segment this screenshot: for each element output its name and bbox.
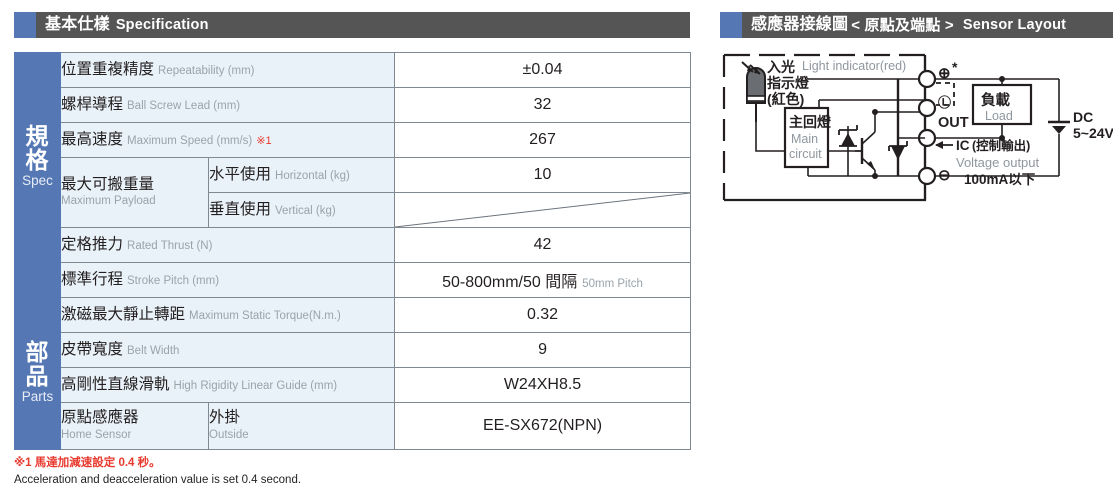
label-latin: Maximum Speed (mm/s)	[127, 135, 252, 147]
ic-arrow-icon	[935, 141, 953, 149]
table-row: 高剛性直線滑軌High Rigidity Linear Guide (mm) W…	[15, 368, 691, 403]
label-cjk: 激磁最大靜止轉距	[61, 306, 185, 323]
label-latin: Home Sensor	[61, 429, 208, 443]
dc-power-source-icon	[1048, 122, 1070, 134]
spec-title-latin: Specification	[116, 18, 209, 33]
label-cjk: 最大可搬重量	[61, 176, 208, 195]
table-row: 部品 Parts 激磁最大靜止轉距Maximum Static Torque(N…	[15, 298, 691, 333]
light-indicator-latin-label: Light indicator(red)	[802, 59, 906, 73]
row-value-high-rigidity-linear-guide: W24XH8.5	[395, 368, 691, 403]
label-latin: Maximum Payload	[61, 195, 208, 209]
value-text: EE-SX672(NPN)	[483, 417, 602, 434]
table-row: 螺桿導程Ball Screw Lead (mm) 32	[15, 88, 691, 123]
label-latin: Rated Thrust (N)	[127, 240, 212, 252]
value-text: 0.32	[527, 306, 558, 323]
value-text: ±0.04	[523, 61, 563, 78]
row-value-vertical-payload	[395, 193, 691, 228]
label-latin: High Rigidity Linear Guide (mm)	[174, 380, 338, 392]
spec-title-cjk: 基本仕樣	[45, 17, 110, 33]
row-value-horizontal-payload: 10	[395, 158, 691, 193]
label-cjk: 位置重複精度	[61, 61, 154, 78]
sub-row-label-horizontal: 水平使用Horizontal (kg)	[209, 158, 395, 193]
value-text: 42	[534, 236, 552, 253]
junction-dot	[999, 76, 1005, 82]
sub-label-cjk: 外掛	[209, 409, 394, 428]
load-cjk-label: 負載	[981, 91, 1010, 109]
label-cjk: 皮帶寬度	[61, 341, 123, 358]
label-latin: Ball Screw Lead (mm)	[127, 100, 240, 112]
header-bar: 基本仕樣 Specification	[36, 12, 690, 38]
row-label-high-rigidity-linear-guide: 高剛性直線滑軌High Rigidity Linear Guide (mm)	[61, 368, 395, 403]
value-sub-text: 50mm Pitch	[582, 278, 643, 290]
footnote-cjk: ※1 馬達加減速設定 0.4 秒。	[14, 456, 301, 472]
row-value-stroke-pitch: 50-800mm/50 間隔50mm Pitch	[395, 263, 691, 298]
row-value-repeatability: ±0.04	[395, 53, 691, 88]
row-label-maximum-speed: 最高速度Maximum Speed (mm/s)※1	[61, 123, 395, 158]
group-cell-parts: 部品 Parts	[15, 298, 61, 450]
sub-label-latin: Horizontal (kg)	[275, 170, 350, 182]
label-latin: Repeatability (mm)	[158, 65, 255, 77]
sub-row-label-vertical: 垂直使用Vertical (kg)	[209, 193, 395, 228]
terminal-out-label: OUT	[938, 115, 969, 131]
dc-value-label: 5~24V	[1073, 125, 1113, 141]
row-label-belt-width: 皮帶寬度Belt Width	[61, 333, 395, 368]
row-value-rated-thrust: 42	[395, 228, 691, 263]
dc-label: DC	[1073, 109, 1093, 125]
label-cjk: 原點感應器	[61, 409, 208, 428]
load-latin-label: Load	[985, 109, 1013, 123]
row-value-belt-width: 9	[395, 333, 691, 368]
light-indicator-cjk-label-3: (紅色)	[767, 91, 804, 107]
specification-section-header: 基本仕樣 Specification	[14, 12, 690, 38]
table-row: 最高速度Maximum Speed (mm/s)※1 267	[15, 123, 691, 158]
terminal-l-icon: Ⓛ	[938, 95, 951, 110]
row-value-home-sensor: EE-SX672(NPN)	[395, 403, 691, 450]
junction-dot	[999, 135, 1005, 141]
header-bar: 感應器接線圖 < 原點及端點 > Sensor Layout	[742, 12, 1113, 38]
voltage-output-label: Voltage output	[956, 155, 1040, 170]
row-label-repeatability: 位置重複精度Repeatability (mm)	[61, 53, 395, 88]
header-accent-block	[720, 12, 742, 38]
light-indicator-cjk-label-1: 入光	[767, 59, 795, 75]
sensor-circuit-svg: Light indicator(red) 入光 指示燈 (紅色) 主回燈 Mai…	[720, 50, 1113, 215]
row-label-maximum-static-torque: 激磁最大靜止轉距Maximum Static Torque(N.m.)	[61, 298, 395, 333]
label-latin: Stroke Pitch (mm)	[127, 275, 219, 287]
specification-table: 規格 Spec 位置重複精度Repeatability (mm) ±0.04 螺…	[14, 52, 691, 450]
sensor-title-mid: < 原點及端點 >	[851, 18, 954, 33]
terminal-minus-post	[919, 168, 935, 184]
sensor-title-latin: Sensor Layout	[963, 18, 1066, 33]
row-value-maximum-static-torque: 0.32	[395, 298, 691, 333]
label-latin: Belt Width	[127, 345, 179, 357]
row-label-rated-thrust: 定格推力Rated Thrust (N)	[61, 228, 395, 263]
value-text: W24XH8.5	[504, 376, 581, 393]
group-label-cjk: 部品	[15, 341, 60, 389]
terminal-plus-post	[919, 71, 935, 87]
light-indicator-cjk-label-2: 指示燈	[767, 75, 810, 91]
npn-transistor-icon	[855, 109, 878, 179]
table-row: 最大可搬重量 Maximum Payload 水平使用Horizontal (k…	[15, 158, 691, 193]
table-row: 皮帶寬度Belt Width 9	[15, 333, 691, 368]
table-row: 原點感應器 Home Sensor 外掛 Outside EE-SX672(NP…	[15, 403, 691, 450]
label-latin: Maximum Static Torque(N.m.)	[189, 310, 341, 322]
main-circuit-latin-label-1: Main	[791, 132, 818, 146]
row-label-ball-screw-lead: 螺桿導程Ball Screw Lead (mm)	[61, 88, 395, 123]
label-cjk: 螺桿導程	[61, 96, 123, 113]
label-cjk: 標準行程	[61, 271, 123, 288]
table-row: 標準行程Stroke Pitch (mm) 50-800mm/50 間隔50mm…	[15, 263, 691, 298]
not-applicable-slash-icon	[395, 193, 690, 227]
terminal-plus-star-marker: *	[952, 59, 958, 75]
sub-label-latin: Vertical (kg)	[275, 205, 336, 217]
terminal-l-post	[919, 100, 935, 116]
group-label-latin: Spec	[15, 173, 60, 190]
row-value-ball-screw-lead: 32	[395, 88, 691, 123]
value-text: 32	[534, 96, 552, 113]
value-text: 10	[534, 166, 552, 183]
row-label-stroke-pitch: 標準行程Stroke Pitch (mm)	[61, 263, 395, 298]
group-cell-spec-continued	[15, 263, 61, 298]
row-label-maximum-payload: 最大可搬重量 Maximum Payload	[61, 158, 209, 228]
sensor-layout-section-header: 感應器接線圖 < 原點及端點 > Sensor Layout	[720, 12, 1113, 38]
zener-diode-right-icon	[889, 79, 907, 176]
value-text: 50-800mm/50 間隔	[442, 274, 577, 291]
ic-label: IC	[956, 138, 970, 153]
table-row: 規格 Spec 位置重複精度Repeatability (mm) ±0.04	[15, 53, 691, 88]
row-label-home-sensor: 原點感應器 Home Sensor	[61, 403, 209, 450]
label-cjk: 定格推力	[61, 236, 123, 253]
footnote: ※1 馬達加減速設定 0.4 秒。 Acceleration and deacc…	[14, 456, 301, 488]
footnote-latin: Acceleration and deacceleration value is…	[14, 473, 301, 489]
value-text: 267	[529, 131, 556, 148]
value-text: 9	[538, 341, 547, 358]
light-receiver-icon	[742, 62, 765, 122]
sensor-title-cjk: 感應器接線圖	[751, 17, 848, 33]
label-cjk: 最高速度	[61, 131, 123, 148]
sub-row-label-outside: 外掛 Outside	[209, 403, 395, 450]
main-circuit-latin-label-2: circuit	[789, 147, 822, 161]
table-row: 定格推力Rated Thrust (N) 42	[15, 228, 691, 263]
group-label-cjk: 規格	[15, 125, 60, 173]
sensor-wiring-diagram: Light indicator(red) 入光 指示燈 (紅色) 主回燈 Mai…	[720, 50, 1113, 215]
group-cell-spec: 規格 Spec	[15, 53, 61, 263]
sub-label-cjk: 垂直使用	[209, 201, 271, 218]
group-label-latin: Parts	[15, 389, 60, 406]
terminal-posts	[898, 71, 935, 184]
main-circuit-cjk-label: 主回燈	[789, 114, 832, 130]
footnote-marker: ※1	[256, 135, 271, 147]
label-cjk: 高剛性直線滑軌	[61, 376, 170, 393]
sub-label-cjk: 水平使用	[209, 166, 271, 183]
sub-label-latin: Outside	[209, 429, 394, 443]
row-value-maximum-speed: 267	[395, 123, 691, 158]
current-limit-label: 100mA以下	[964, 172, 1036, 187]
header-accent-block	[14, 12, 36, 38]
